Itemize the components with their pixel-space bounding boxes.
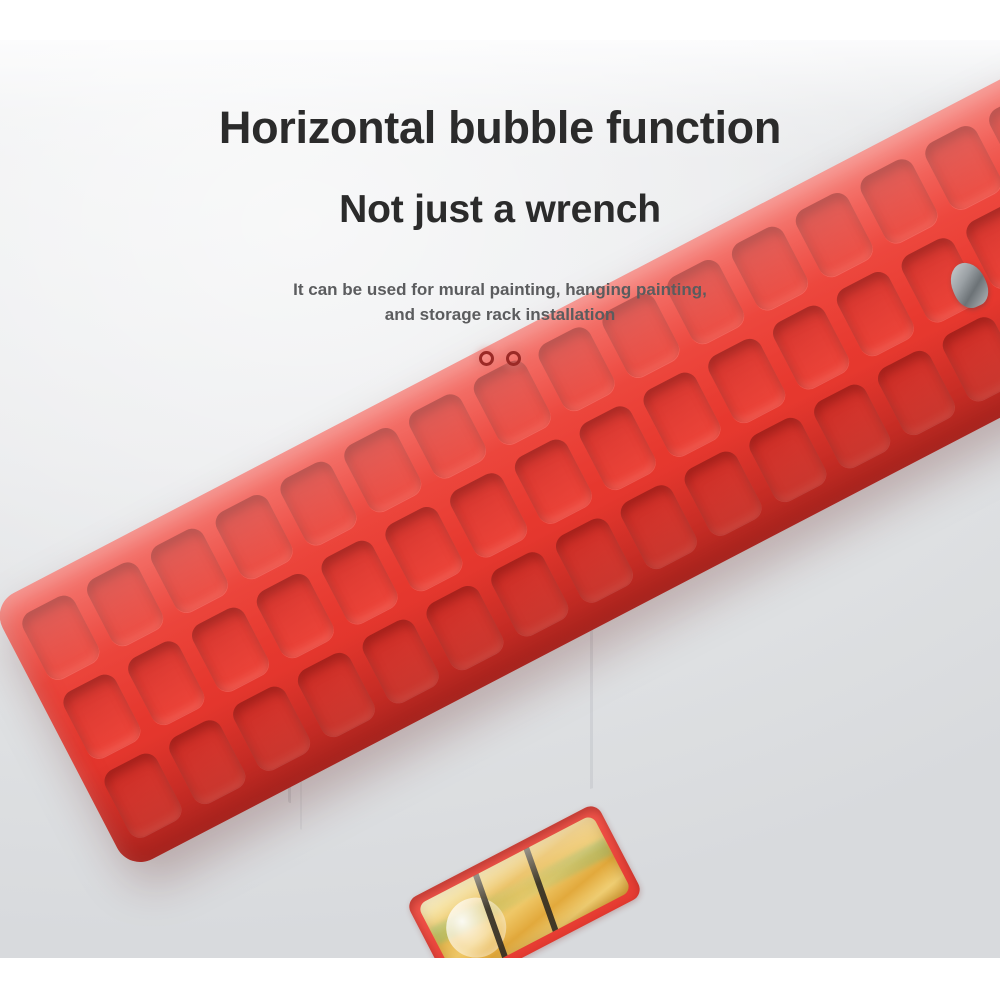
indicator-dots [0,327,1000,366]
grid-cell [680,447,765,539]
grid-cell [639,368,724,460]
grid-cell [487,548,572,640]
grid-cell [616,481,701,573]
vial-green-tint [429,837,612,945]
vial-marking-line [522,843,560,936]
grid-cell [164,716,249,808]
grid-cell [211,491,296,583]
letterbox-band-bottom [0,958,1000,1000]
grid-cell [82,558,167,650]
grid-cell [469,356,554,448]
grid-cell [745,414,830,506]
grid-cell [446,469,531,561]
bubble-level-window [405,802,644,960]
vial-marking-line [472,869,510,960]
bubble-level-vial [417,814,631,960]
grid-cell [551,514,636,606]
letterbox-band-top [0,0,1000,40]
background-watermark-shape-c [300,629,422,851]
indicator-dot-2[interactable] [506,351,521,366]
subheadline: Not just a wrench [0,153,1000,232]
grid-cell [405,390,490,482]
grid-cell [358,615,443,707]
grid-cell [293,648,378,740]
grid-cell [809,380,894,472]
grid-cell [100,749,185,841]
grid-cell [59,670,144,762]
background-watermark-shape-a [288,469,501,863]
grid-cell [252,570,337,662]
grid-cell [575,402,660,494]
background-watermark-shape-b [430,488,593,832]
description-text: It can be used for mural painting, hangi… [290,231,710,326]
grid-cell [188,603,273,695]
grid-cell [422,581,507,673]
vial-gloss [417,814,608,937]
grid-cell [381,502,466,594]
grid-cell [276,457,361,549]
grid-cell [317,536,402,628]
grid-cell [340,423,425,515]
grid-cell [147,524,232,616]
indicator-dot-1[interactable] [479,351,494,366]
grid-cell [18,591,103,683]
marketing-copy: Horizontal bubble function Not just a wr… [0,0,1000,366]
product-marketing-banner: Horizontal bubble function Not just a wr… [0,0,1000,1000]
grid-cell [123,637,208,729]
level-bubble [436,887,517,960]
grid-cell [510,435,595,527]
grid-cell [229,682,314,774]
